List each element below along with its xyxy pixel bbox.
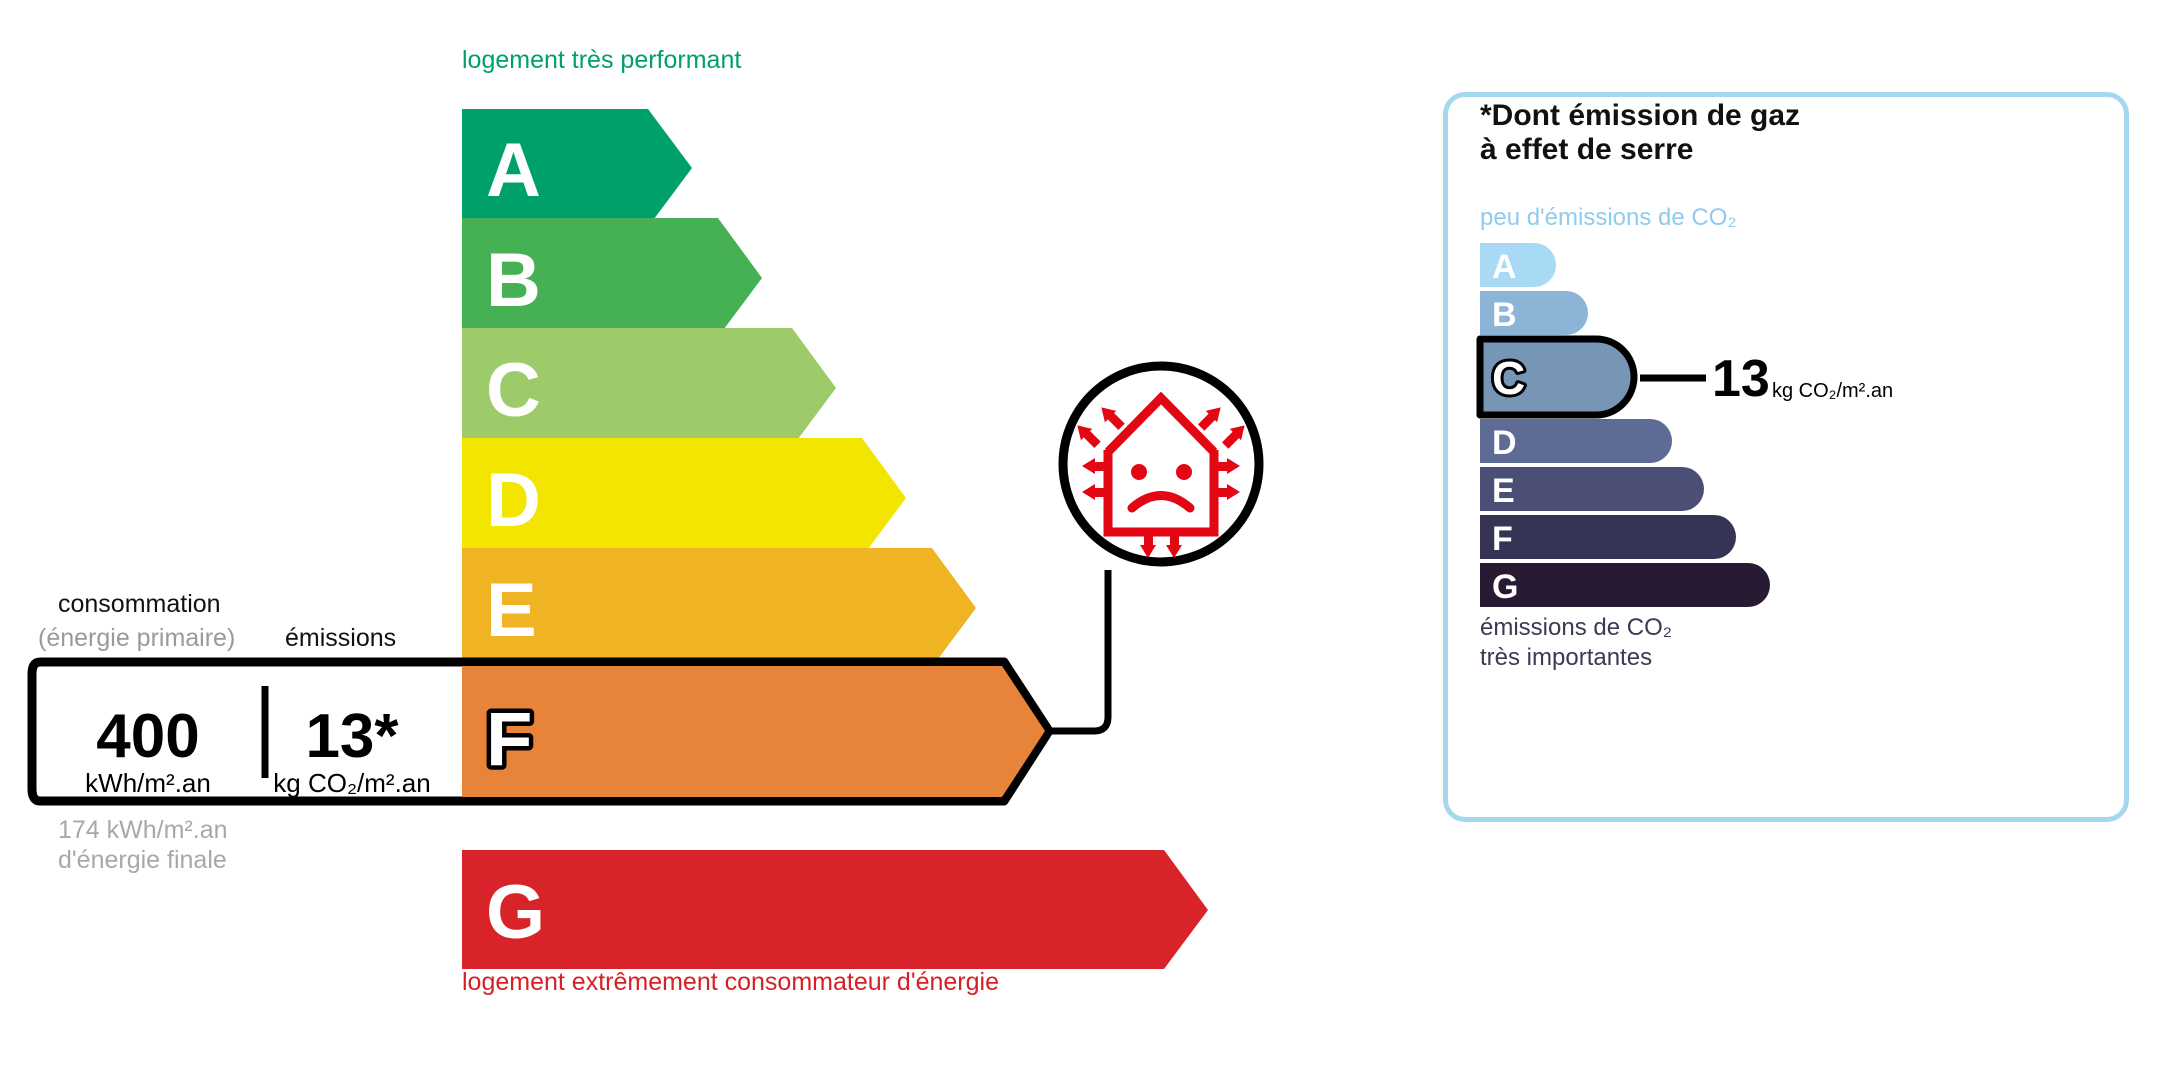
co2-bar-c-letter: C <box>1492 352 1525 404</box>
co2-callout-value: 13 <box>1712 350 1770 408</box>
consumption-unit: kWh/m².an <box>85 768 211 798</box>
sad-house-heat-loss-icon <box>1063 366 1259 562</box>
consumption-label: consommation <box>58 590 221 618</box>
energy-band-a[interactable]: A <box>462 109 692 227</box>
dpe-diagram: logement très performant A B C D E <box>0 0 2169 1079</box>
callout-connector-line <box>1049 570 1108 731</box>
energy-band-f-shape <box>462 666 1045 797</box>
co2-bar-f-shape <box>1480 515 1736 559</box>
energy-band-c[interactable]: C <box>462 328 836 447</box>
energy-scale: logement très performant A B C D E <box>0 0 1420 1079</box>
energy-top-caption: logement très performant <box>462 46 741 74</box>
consumption-value: 400 <box>96 702 199 771</box>
co2-bar-g[interactable]: G <box>1480 563 1770 607</box>
energy-band-e[interactable]: E <box>462 548 976 667</box>
energy-band-a-letter: A <box>486 128 541 213</box>
energy-band-g[interactable]: G <box>462 850 1208 969</box>
energy-band-g-shape <box>462 850 1208 969</box>
co2-bar-g-letter: G <box>1492 568 1518 606</box>
co2-title-line2: à effet de serre <box>1480 133 1693 166</box>
co2-bar-f-letter: F <box>1492 520 1513 558</box>
co2-bar-a-letter: A <box>1492 248 1517 286</box>
co2-bar-f[interactable]: F <box>1480 515 1736 559</box>
co2-bar-c-selected[interactable]: C 13 kg CO₂/m².an <box>1480 339 1893 415</box>
co2-bottom-caption-line2: très importantes <box>1480 644 1652 671</box>
energy-band-e-letter: E <box>486 568 537 653</box>
co2-panel: *Dont émission de gaz à effet de serre p… <box>1443 92 2129 822</box>
co2-bar-a[interactable]: A <box>1480 243 1556 287</box>
final-energy-line1: 174 kWh/m².an <box>58 816 228 844</box>
energy-band-e-shape <box>462 548 976 667</box>
consumption-sublabel: (énergie primaire) <box>38 624 235 652</box>
co2-callout-unit: kg CO₂/m².an <box>1772 380 1893 402</box>
energy-band-f-letter: F <box>486 697 532 782</box>
co2-bar-e[interactable]: E <box>1480 467 1704 511</box>
energy-band-d-letter: D <box>486 458 541 543</box>
co2-bottom-caption-line1: émissions de CO₂ <box>1480 614 1672 641</box>
co2-bar-b[interactable]: B <box>1480 291 1588 335</box>
co2-top-caption: peu d'émissions de CO₂ <box>1480 204 1737 231</box>
emissions-unit: kg CO₂/m².an <box>273 768 430 798</box>
co2-scale: *Dont émission de gaz à effet de serre p… <box>1448 97 2134 827</box>
co2-bar-d[interactable]: D <box>1480 419 1672 463</box>
energy-band-c-letter: C <box>486 348 541 433</box>
emissions-value: 13* <box>305 702 399 771</box>
co2-bar-d-letter: D <box>1492 424 1517 462</box>
co2-bar-g-shape <box>1480 563 1770 607</box>
emissions-label: émissions <box>285 624 396 652</box>
energy-band-g-letter: G <box>486 870 545 955</box>
energy-band-b-letter: B <box>486 238 541 323</box>
co2-bar-b-letter: B <box>1492 296 1517 334</box>
co2-title-line1: *Dont émission de gaz <box>1480 99 1800 132</box>
energy-bottom-caption: logement extrêmement consommateur d'éner… <box>462 968 999 996</box>
energy-band-b[interactable]: B <box>462 218 762 337</box>
final-energy-line2: d'énergie finale <box>58 846 227 874</box>
energy-band-d[interactable]: D <box>462 438 906 557</box>
co2-bar-e-letter: E <box>1492 472 1515 510</box>
